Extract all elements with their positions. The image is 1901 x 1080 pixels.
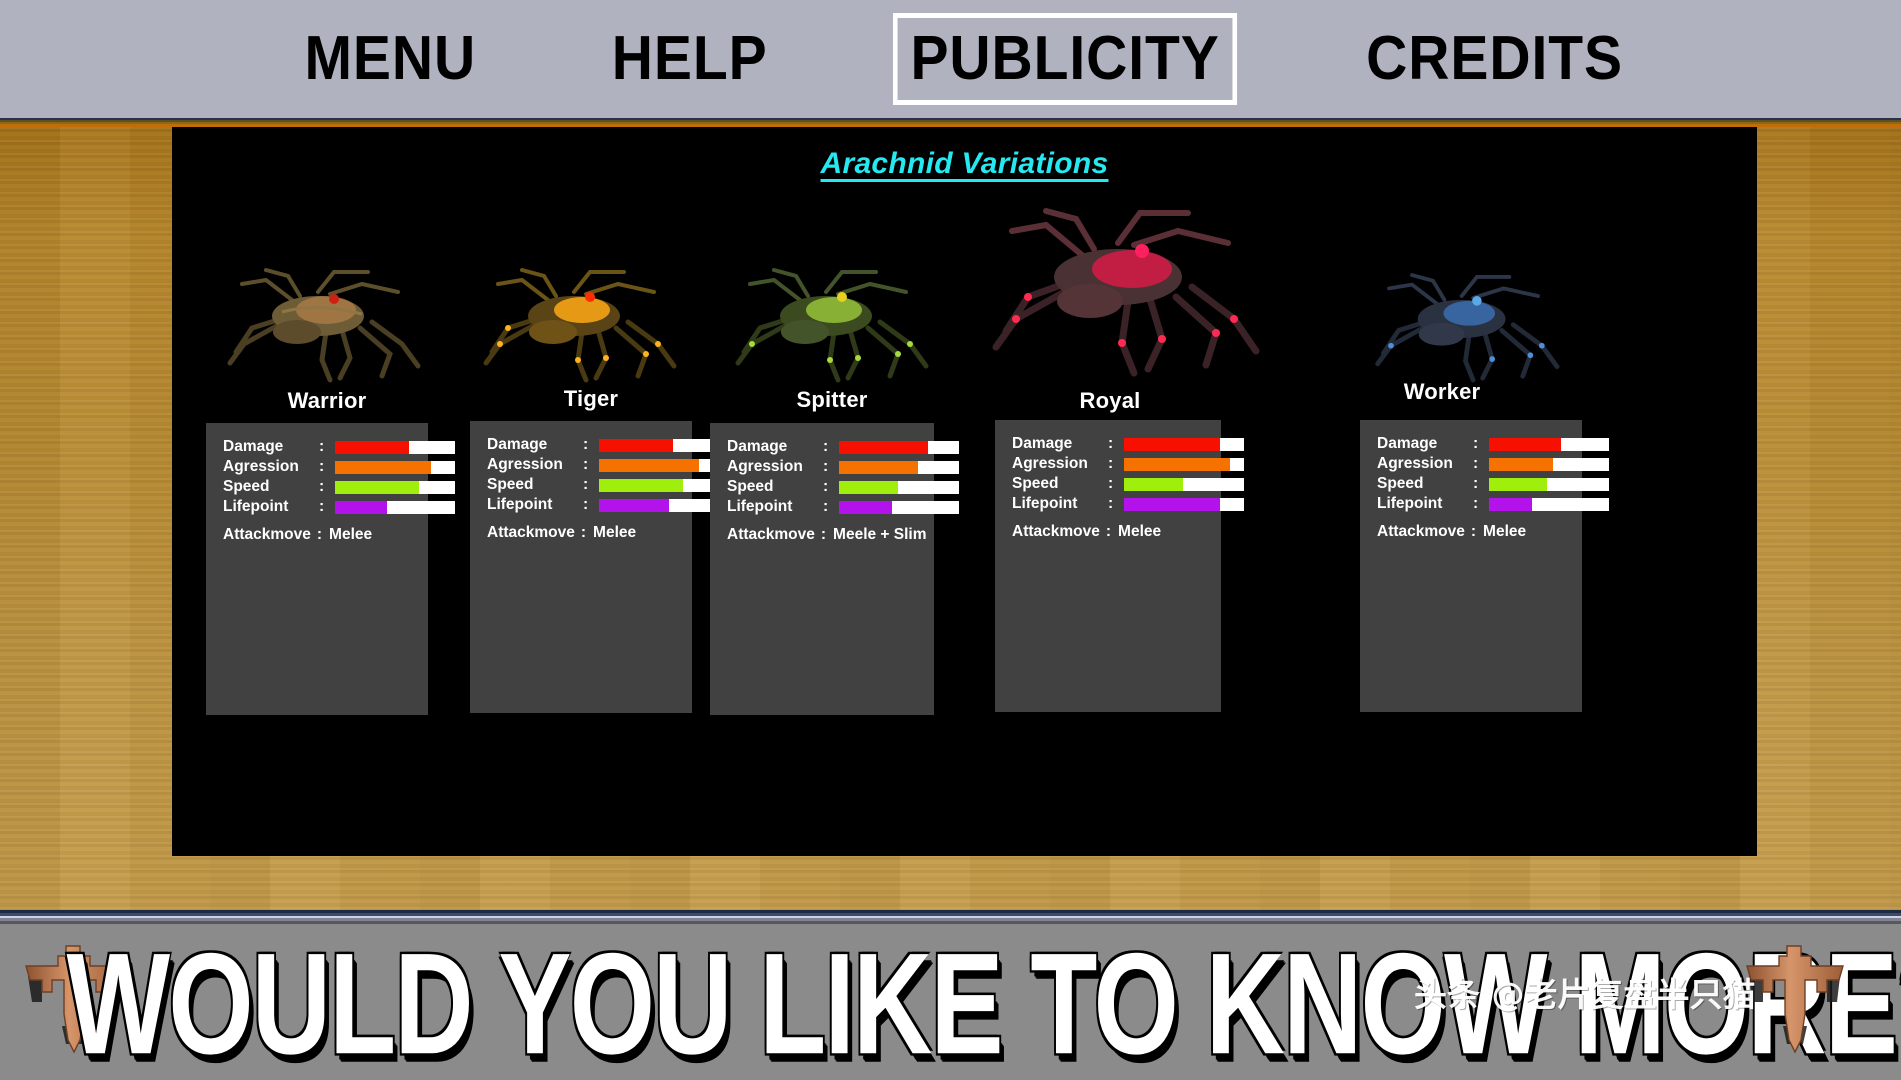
stat-colon: : [1108,475,1124,493]
stat-value-attackmove: Meele + Slim [833,526,926,544]
stat-colon: : [1108,435,1124,453]
stat-label-speed: Speed [1377,475,1473,493]
stat-row-speed: Speed : [727,477,959,497]
stat-row-attackmove: Attackmove : Melee [1377,523,1609,541]
stat-bar-agression [1489,458,1609,471]
arachnid-royal-icon [986,205,1286,380]
stat-box-tiger: Damage : Agression : Speed : [470,421,692,713]
stat-row-speed: Speed : [1012,474,1244,494]
stat-label-attackmove: Attackmove [1377,523,1465,541]
stat-label-agression: Agression [1377,455,1473,473]
nav-item-help[interactable]: HELP [595,13,786,105]
stat-bar-agression [1124,458,1244,471]
stat-colon: : [1465,523,1483,541]
stat-row-agression: Agression : [1012,454,1244,474]
stat-row-attackmove: Attackmove : Melee [1012,523,1244,541]
stat-colon: : [1473,435,1489,453]
stat-rows: Damage : Agression : Speed : [727,437,959,544]
stat-bar-damage [1489,438,1609,451]
stat-value-attackmove: Melee [329,526,372,544]
stat-colon: : [311,526,329,544]
stat-box-warrior: Damage : Agression : Speed : [206,423,428,715]
stat-colon: : [319,438,335,456]
nav-item-menu[interactable]: MENU [287,13,494,105]
stat-label-lifepoint: Lifepoint [487,496,583,514]
creature-column-worker: Worker Damage : Agression : Speed [1282,127,1602,856]
stat-colon: : [319,458,335,476]
stat-value-attackmove: Melee [1118,523,1161,541]
stat-label-speed: Speed [223,478,319,496]
stat-colon: : [823,498,839,516]
stat-label-lifepoint: Lifepoint [1377,495,1473,513]
stat-label-damage: Damage [727,438,823,456]
stat-colon: : [1100,523,1118,541]
creature-name-royal: Royal [940,388,1280,414]
stat-colon: : [1473,495,1489,513]
content-panel: Arachnid Variations [172,127,1757,856]
stat-bar-speed [1124,478,1244,491]
arachnid-spitter-icon [730,266,950,386]
stat-colon: : [583,496,599,514]
stat-row-agression: Agression : [727,457,959,477]
stat-row-damage: Damage : [727,437,959,457]
stat-colon: : [583,436,599,454]
stat-label-speed: Speed [1012,475,1108,493]
stat-bar-damage [1124,438,1244,451]
stat-label-attackmove: Attackmove [727,526,815,544]
stat-label-attackmove: Attackmove [223,526,311,544]
stat-label-attackmove: Attackmove [487,524,575,542]
stat-colon: : [583,456,599,474]
stat-box-worker: Damage : Agression : Speed : [1360,420,1582,712]
stat-row-attackmove: Attackmove : Meele + Slim [727,526,959,544]
stat-colon: : [583,476,599,494]
stat-colon: : [823,458,839,476]
stat-row-lifepoint: Lifepoint : [1377,494,1609,514]
stat-colon: : [823,478,839,496]
stat-label-attackmove: Attackmove [1012,523,1100,541]
nav-item-publicity[interactable]: PUBLICITY [893,13,1237,105]
stat-row-lifepoint: Lifepoint : [727,497,959,517]
stat-colon: : [815,526,833,544]
stat-bar-speed [1489,478,1609,491]
stat-box-spitter: Damage : Agression : Speed : [710,423,934,715]
stat-value-attackmove: Melee [1483,523,1526,541]
stat-value-attackmove: Melee [593,524,636,542]
nav-divider [0,118,1901,127]
stat-row-lifepoint: Lifepoint : [223,497,455,517]
stat-colon: : [319,478,335,496]
stat-label-agression: Agression [1012,455,1108,473]
stat-row-agression: Agression : [223,457,455,477]
stat-colon: : [1108,455,1124,473]
stat-label-damage: Damage [1377,435,1473,453]
stat-row-lifepoint: Lifepoint : [1012,494,1244,514]
stat-rows: Damage : Agression : Speed : [223,437,455,544]
nav-items-container: MENU HELP PUBLICITY CREDITS [278,13,1653,105]
stat-bar-lifepoint [1124,498,1244,511]
stat-colon: : [1108,495,1124,513]
creature-name-worker: Worker [1282,379,1602,405]
stat-rows: Damage : Agression : Speed : [1012,434,1244,541]
eagle-emblem-right-icon [1739,940,1851,1065]
stat-label-speed: Speed [487,476,583,494]
stat-row-attackmove: Attackmove : Melee [223,526,455,544]
stat-label-damage: Damage [223,438,319,456]
arachnid-tiger-icon [478,266,698,386]
stat-colon: : [575,524,593,542]
wood-background: Arachnid Variations [0,127,1901,910]
stat-box-royal: Damage : Agression : Speed : [995,420,1221,712]
stat-colon: : [823,438,839,456]
bottom-divider [0,910,1901,924]
watermark-text: 头条 @老片复盘半只猫 [1414,968,1756,1016]
stat-label-speed: Speed [727,478,823,496]
stat-row-speed: Speed : [1377,474,1609,494]
stat-label-lifepoint: Lifepoint [1012,495,1108,513]
stat-row-agression: Agression : [1377,454,1609,474]
stat-label-lifepoint: Lifepoint [223,498,319,516]
stat-row-speed: Speed : [223,477,455,497]
creature-column-royal: Royal Damage : Agression : Speed [940,127,1280,856]
arachnid-worker-icon [1370,271,1580,386]
stat-label-damage: Damage [1012,435,1108,453]
stat-label-agression: Agression [487,456,583,474]
stat-row-damage: Damage : [1377,434,1609,454]
nav-item-credits[interactable]: CREDITS [1349,13,1641,105]
stat-label-damage: Damage [487,436,583,454]
top-navigation-bar: MENU HELP PUBLICITY CREDITS [0,0,1901,118]
stat-colon: : [1473,475,1489,493]
stat-label-lifepoint: Lifepoint [727,498,823,516]
stat-label-agression: Agression [727,458,823,476]
arachnid-warrior-icon [222,266,442,386]
stat-row-damage: Damage : [1012,434,1244,454]
stat-row-damage: Damage : [223,437,455,457]
stat-bar-lifepoint [1489,498,1609,511]
stat-colon: : [1473,455,1489,473]
stat-label-agression: Agression [223,458,319,476]
stat-rows: Damage : Agression : Speed : [1377,434,1609,541]
stat-colon: : [319,498,335,516]
